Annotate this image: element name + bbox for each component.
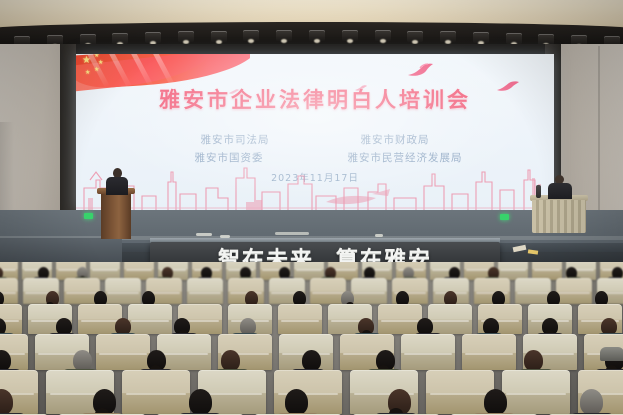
organizer-row-1: 雅安市司法局 雅安市财政局 bbox=[155, 132, 475, 147]
audience-seat[interactable] bbox=[278, 304, 322, 334]
exit-marker-light-left bbox=[84, 213, 93, 219]
city-skyline-icon bbox=[76, 158, 554, 210]
audience-member-head bbox=[524, 350, 543, 371]
ceiling bbox=[0, 0, 623, 50]
side-table bbox=[530, 195, 588, 235]
water-bottle bbox=[536, 185, 541, 198]
audience-seat[interactable] bbox=[462, 334, 516, 370]
audience-seat[interactable] bbox=[351, 278, 387, 304]
audience-area bbox=[0, 262, 623, 415]
audience-seat[interactable] bbox=[122, 370, 190, 414]
wall-seam bbox=[598, 46, 600, 221]
audience-member-head bbox=[285, 389, 308, 415]
seated-attendant bbox=[548, 175, 572, 199]
wall-left bbox=[0, 44, 66, 224]
audience-member-head bbox=[580, 389, 603, 415]
projection-screen: ★ ★ ★ ★ ★ 雅安市企业法律明白人培训会 bbox=[76, 54, 554, 210]
audience-seat[interactable] bbox=[502, 370, 570, 414]
audience-seat[interactable] bbox=[274, 370, 342, 414]
auditorium-scene: ★ ★ ★ ★ ★ 雅安市企业法律明白人培训会 bbox=[0, 0, 623, 415]
proscenium-left bbox=[60, 44, 76, 226]
audience-member-head bbox=[221, 350, 240, 371]
side-table-skirt bbox=[532, 200, 586, 233]
audience-seat[interactable] bbox=[96, 334, 150, 370]
audience-member-head bbox=[484, 389, 507, 415]
audience-seat[interactable] bbox=[515, 278, 551, 304]
floor-tape-mark-3 bbox=[275, 232, 309, 235]
presenter-body bbox=[106, 177, 128, 195]
audience-member-head bbox=[0, 350, 11, 371]
lectern bbox=[101, 191, 131, 239]
audience-seat[interactable] bbox=[556, 278, 592, 304]
organizer-1: 雅安市司法局 bbox=[155, 132, 315, 147]
floor-tape-mark-4 bbox=[375, 234, 383, 237]
truss-lamp-11 bbox=[347, 39, 353, 43]
audience-seat[interactable] bbox=[401, 334, 455, 370]
audience-member-head bbox=[73, 350, 92, 371]
audience-seat[interactable] bbox=[378, 304, 422, 334]
organizer-2: 雅安市财政局 bbox=[315, 132, 475, 147]
floor-tape-mark-1 bbox=[196, 233, 212, 236]
audience-seat[interactable] bbox=[128, 304, 172, 334]
exit-marker-light-right bbox=[500, 214, 509, 220]
presentation-title: 雅安市企业法律明白人培训会 bbox=[76, 84, 554, 114]
audience-member-head bbox=[302, 350, 321, 371]
audience-member-cap bbox=[600, 347, 623, 361]
audience-member-head bbox=[189, 389, 212, 415]
truss-lamp-10 bbox=[314, 39, 320, 43]
dove-icon-1 bbox=[406, 62, 436, 78]
audience-seat[interactable] bbox=[105, 278, 141, 304]
presenter bbox=[105, 168, 129, 194]
audience-seat[interactable] bbox=[428, 304, 472, 334]
audience-seat[interactable] bbox=[187, 278, 223, 304]
attendant-body bbox=[548, 183, 572, 199]
